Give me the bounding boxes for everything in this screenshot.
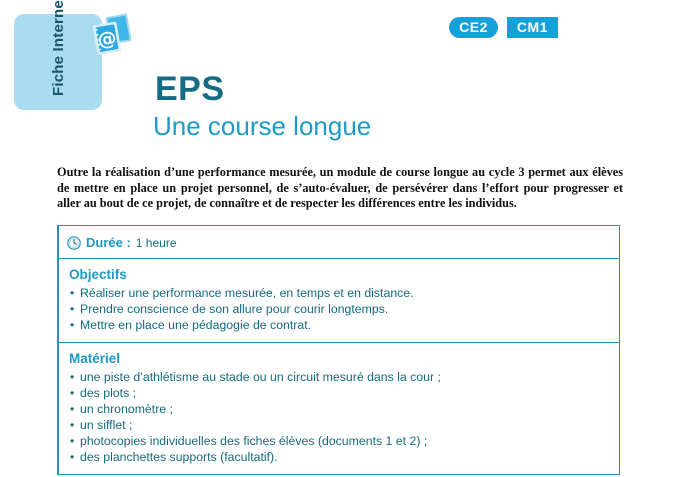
list-item: Réaliser une performance mesurée, en tem… (69, 285, 609, 301)
clock-icon (67, 236, 81, 250)
materials-heading: Matériel (69, 351, 609, 366)
info-boxes: Durée : 1 heure Objectifs Réaliser une p… (57, 225, 620, 475)
list-item: des plots ; (69, 385, 609, 401)
list-item: un chronomètre ; (69, 401, 609, 417)
list-item: une piste d’athlétisme au stade ou un ci… (69, 369, 609, 385)
objectives-list: Réaliser une performance mesurée, en tem… (69, 285, 609, 333)
document-header: Fiche Internet @ EPS Une course longue C… (0, 0, 678, 160)
objectives-box: Objectifs Réaliser une performance mesur… (59, 259, 619, 343)
page-title: EPS (155, 72, 371, 106)
title-block: EPS Une course longue (155, 72, 371, 141)
list-item: un sifflet ; (69, 417, 609, 433)
at-notebook-icon: @ (86, 10, 142, 66)
level-badge-ce2[interactable]: CE2 (449, 17, 498, 38)
list-item: Mettre en place une pédagogie de contrat… (69, 317, 609, 333)
materials-box: Matériel une piste d’athlétisme au stade… (59, 343, 619, 474)
list-item: des planchettes supports (facultatif). (69, 449, 609, 465)
duration-label: Durée : (86, 235, 131, 250)
level-badge-cm1[interactable]: CM1 (507, 17, 558, 38)
materials-list: une piste d’athlétisme au stade ou un ci… (69, 369, 609, 465)
duration-value: 1 heure (136, 236, 177, 250)
objectives-heading: Objectifs (69, 267, 609, 282)
duration-box: Durée : 1 heure (59, 226, 619, 259)
page-subtitle: Une course longue (153, 112, 371, 141)
list-item: photocopies individuelles des fiches élè… (69, 433, 609, 449)
intro-paragraph: Outre la réalisation d’une performance m… (57, 165, 623, 212)
level-badges: CE2 CM1 CM2 (449, 17, 624, 38)
level-badge-cm2[interactable]: CM2 (567, 17, 624, 38)
list-item: Prendre conscience de son allure pour co… (69, 301, 609, 317)
svg-text:@: @ (96, 27, 119, 52)
